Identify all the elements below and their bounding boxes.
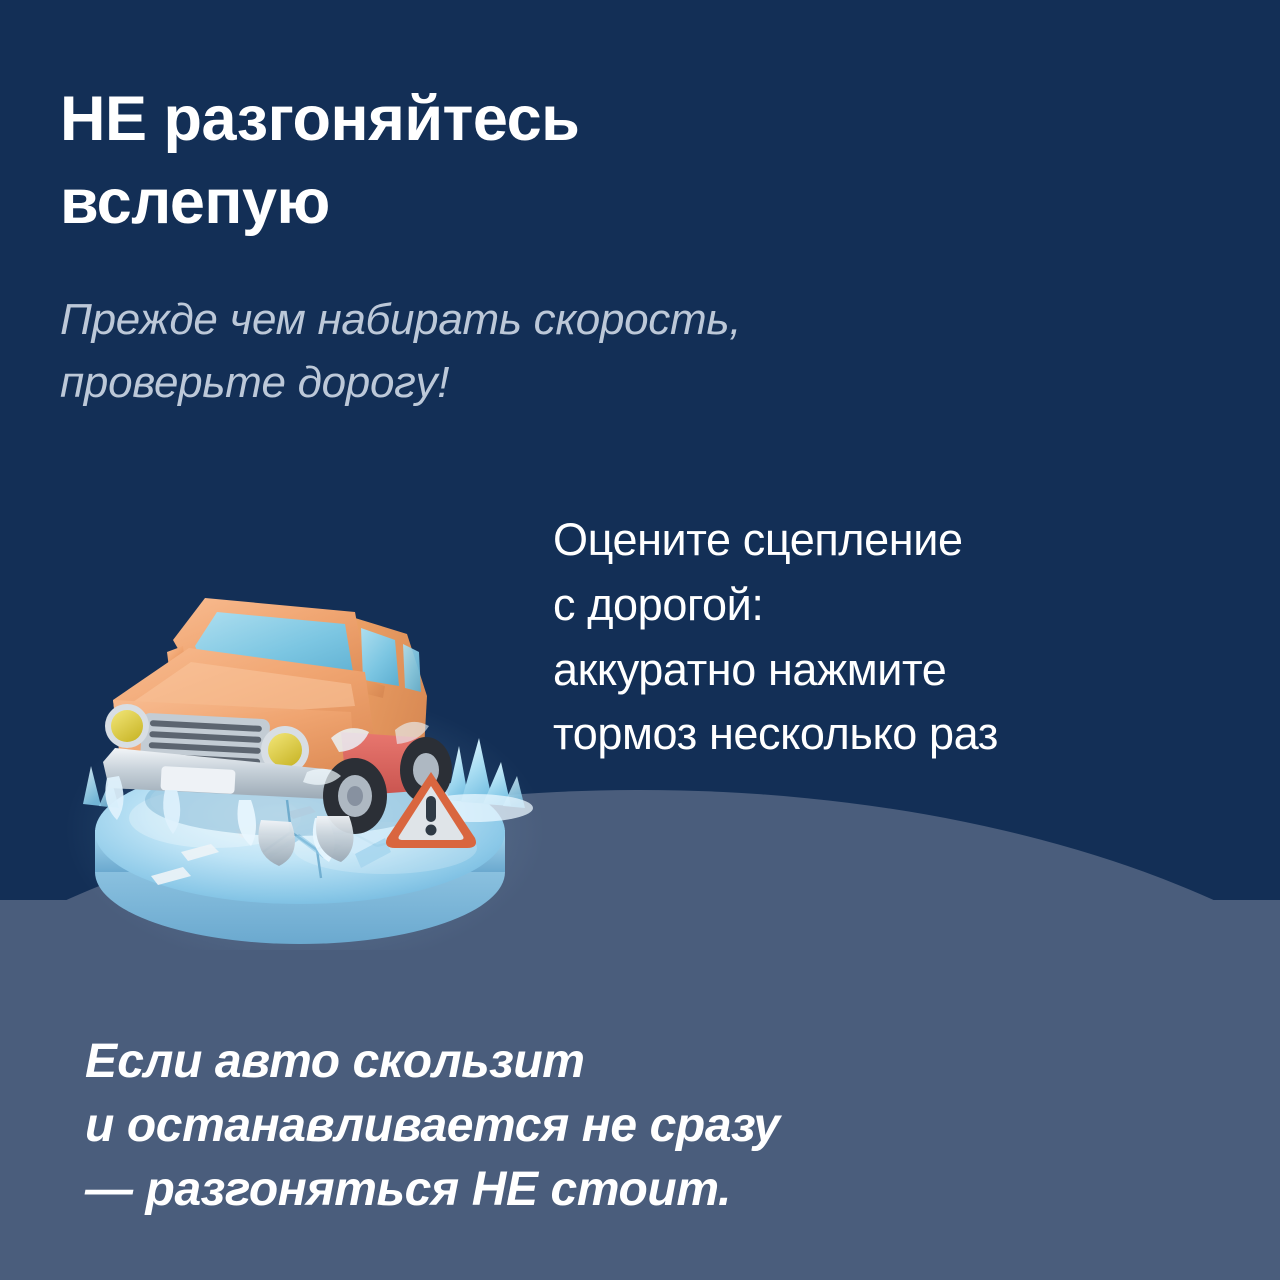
advice-text-block: Оцените сцепление с дорогой: аккуратно н… <box>553 508 1243 767</box>
advice-line-2: с дорогой: <box>553 573 1243 638</box>
conclusion-text-block: Если авто скользит и останавливается не … <box>85 1030 1205 1221</box>
headline-line-2: вслепую <box>60 161 880 244</box>
car-3d-icon <box>103 598 452 836</box>
car-side-window-rear <box>403 644 421 692</box>
conclusion-line-3: — разгоняться НЕ стоит. <box>85 1158 1205 1222</box>
page-title: НЕ разгоняйтесь вслепую <box>60 78 880 244</box>
poster-root: НЕ разгоняйтесь вслепую Прежде чем набир… <box>0 0 1280 1280</box>
page-subtitle: Прежде чем набирать скорость, проверьте … <box>60 288 960 415</box>
warning-exclamation-bar <box>426 796 436 822</box>
conclusion-line-1: Если авто скользит <box>85 1030 1205 1094</box>
car-license-plate <box>160 766 235 794</box>
illustration-car-on-ice <box>55 500 555 950</box>
subtitle-line-2: проверьте дорогу! <box>60 351 960 414</box>
subtitle-line-1: Прежде чем набирать скорость, <box>60 288 960 351</box>
advice-line-1: Оцените сцепление <box>553 508 1243 573</box>
headline-line-1: НЕ разгоняйтесь <box>60 78 880 161</box>
car-headlight-left <box>111 710 143 742</box>
advice-line-4: тормоз несколько раз <box>553 702 1243 767</box>
car-headlight-right <box>268 733 302 767</box>
conclusion-line-2: и останавливается не сразу <box>85 1094 1205 1158</box>
advice-line-3: аккуратно нажмите <box>553 638 1243 703</box>
warning-exclamation-dot <box>426 825 437 836</box>
